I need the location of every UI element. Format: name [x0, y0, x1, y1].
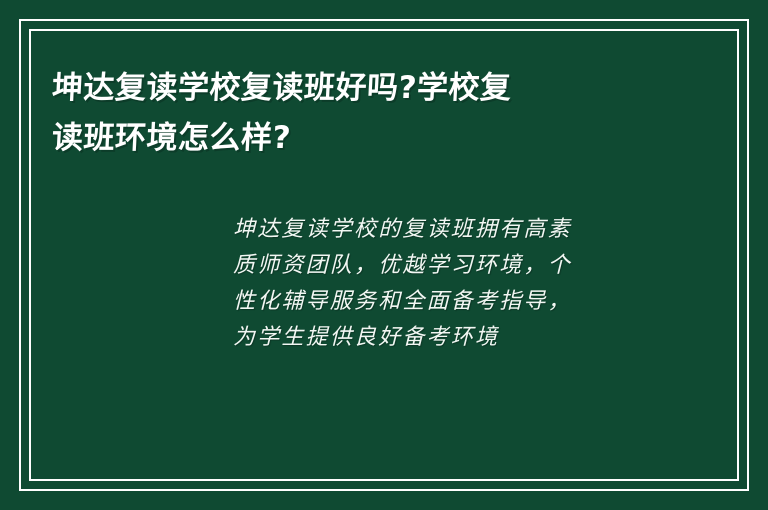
headline-title: 坤达复读学校复读班好吗?学校复 读班环境怎么样?: [52, 63, 672, 163]
headline-line-1: 坤达复读学校复读班好吗?学校复: [51, 63, 674, 113]
headline-line-2: 读班环境怎么样?: [51, 113, 674, 163]
poster-canvas: 坤达复读学校复读班好吗?学校复 读班环境怎么样? 坤达复读学校的复读班拥有高素 …: [0, 0, 768, 510]
body-line-1: 坤达复读学校的复读班拥有高素: [233, 212, 651, 248]
body-line-3: 性化辅导服务和全面备考指导，: [233, 284, 651, 320]
body-line-2: 质师资团队，优越学习环境，个: [233, 248, 651, 284]
body-paragraph: 坤达复读学校的复读班拥有高素 质师资团队，优越学习环境，个 性化辅导服务和全面备…: [233, 212, 651, 356]
body-line-4: 为学生提供良好备考环境: [233, 320, 651, 356]
